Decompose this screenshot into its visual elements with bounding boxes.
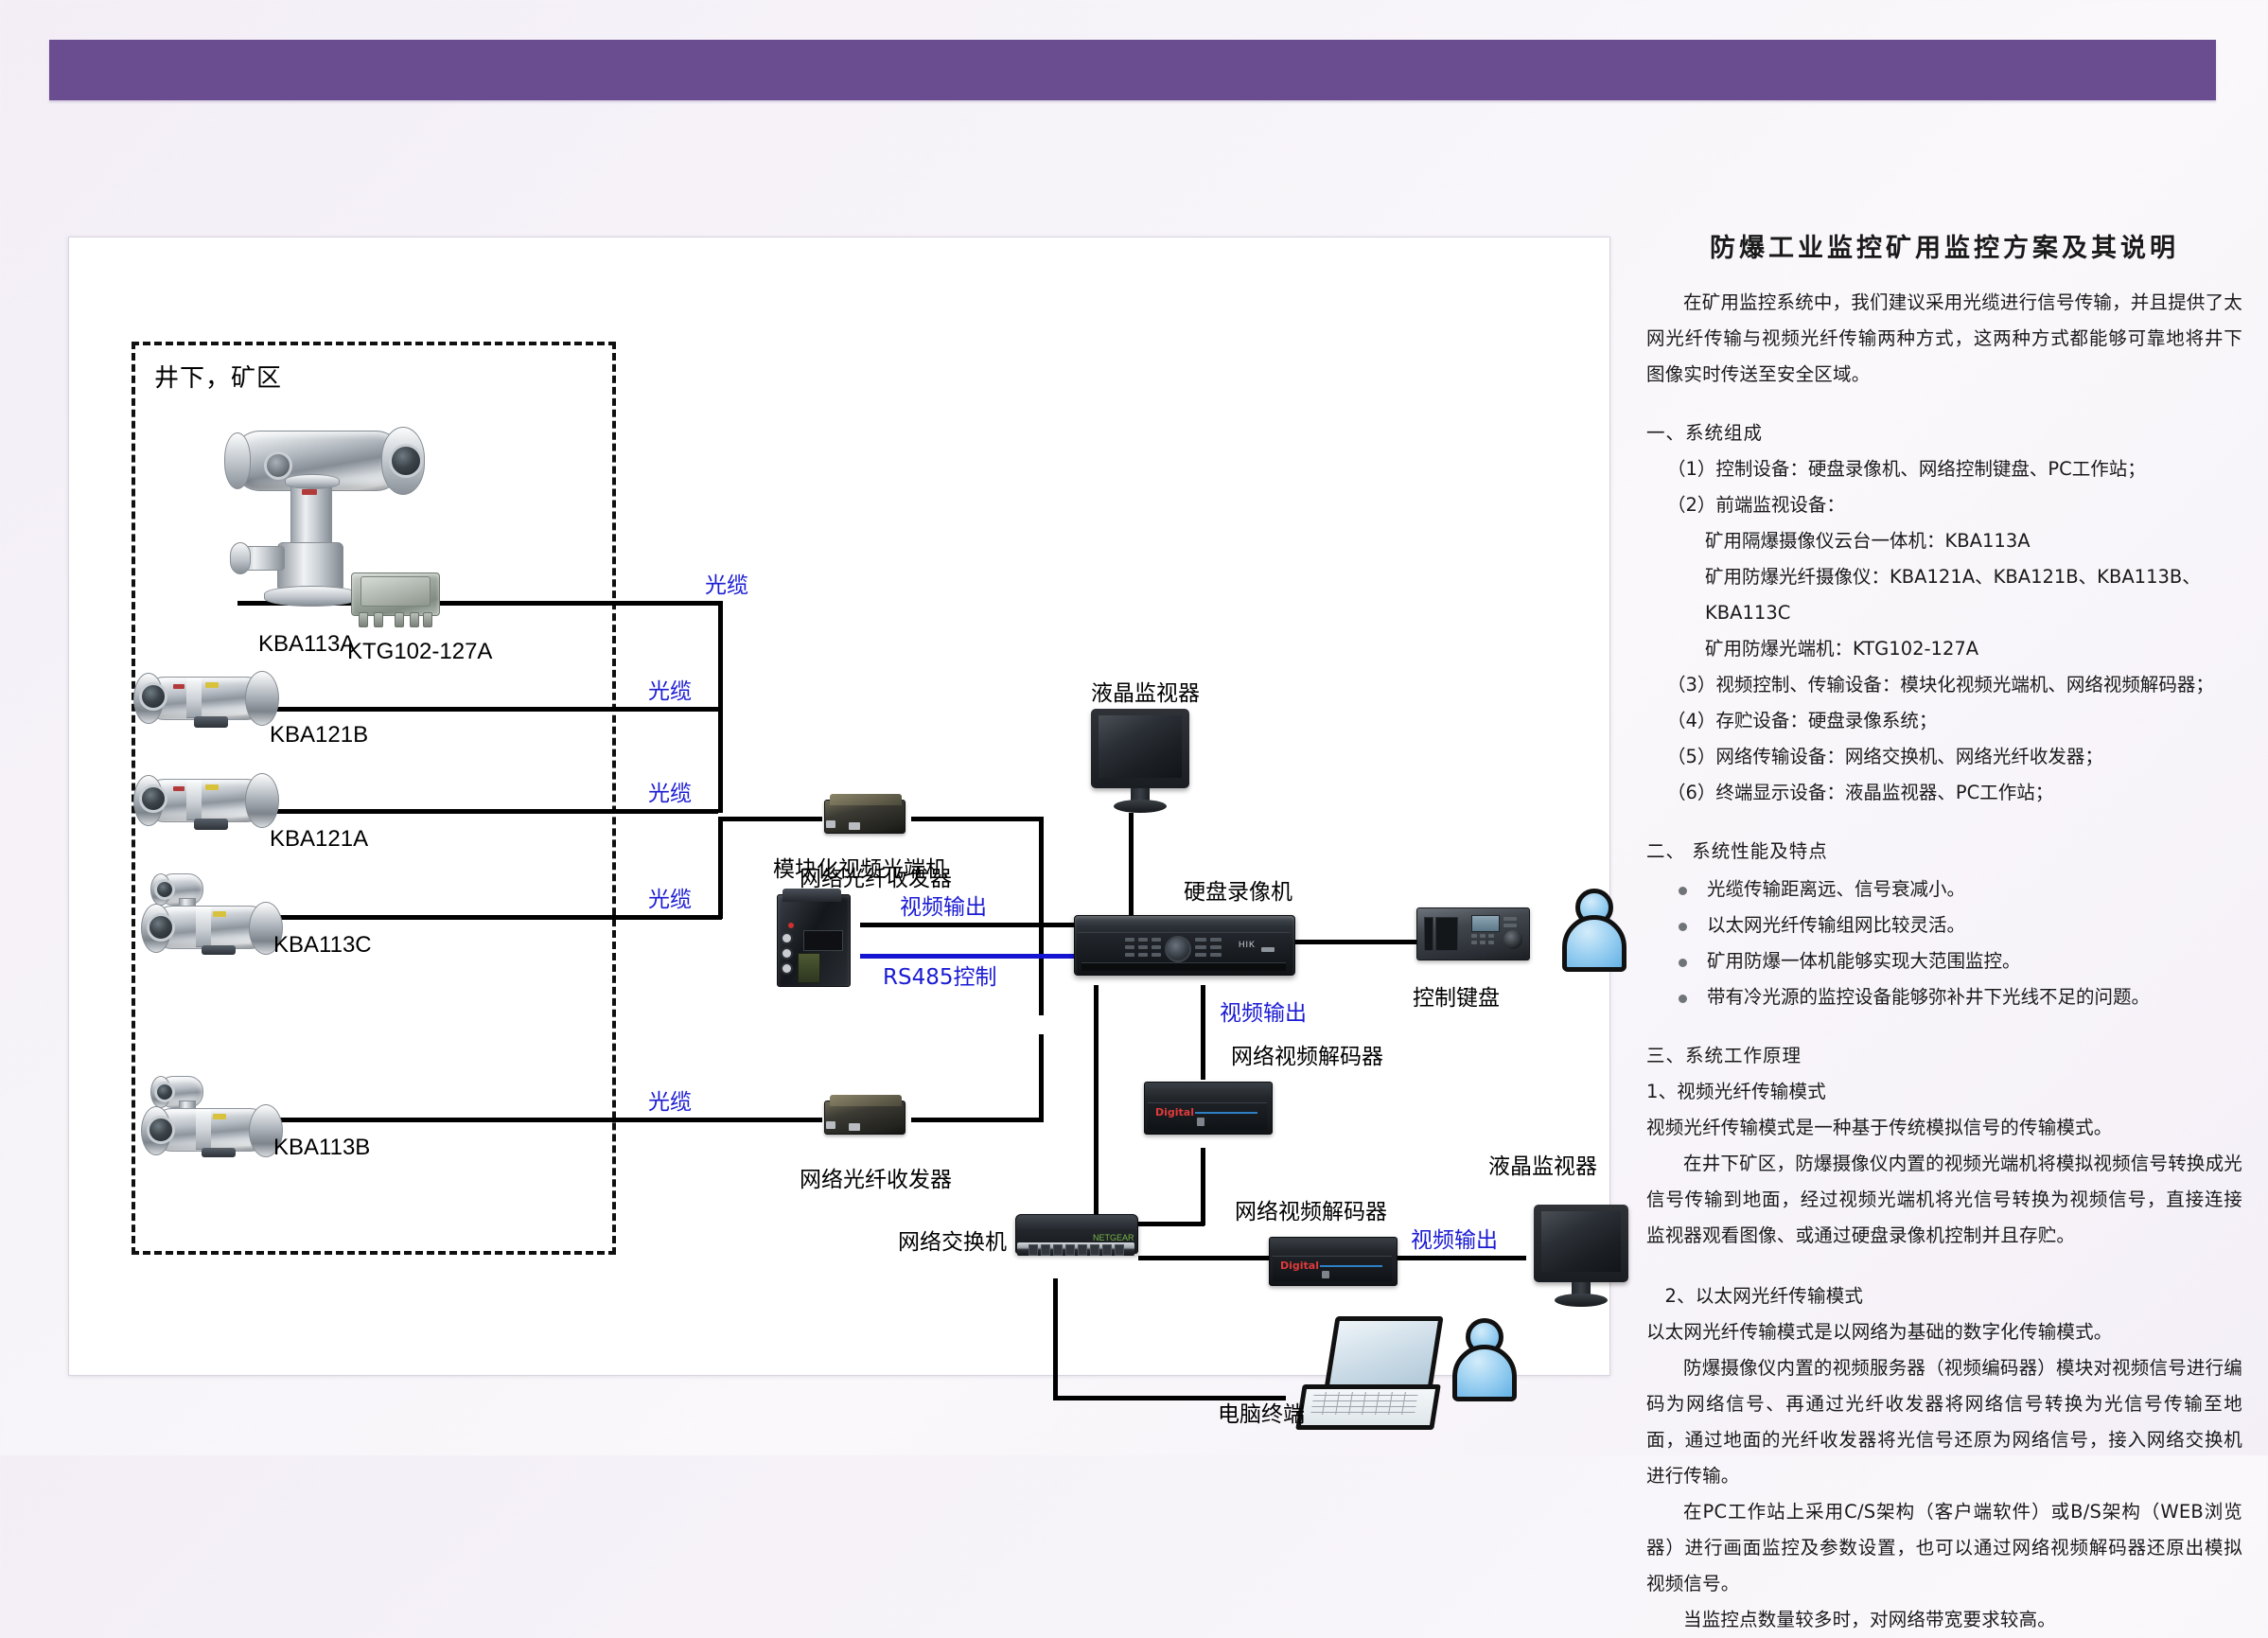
intro-paragraph: 在矿用监控系统中，我们建议采用光缆进行信号传输，并且提供了太网光纤传输与视频光纤… <box>1646 285 2242 393</box>
device-network-switch: NETGEAR <box>1015 1208 1140 1267</box>
label-control-keyboard: 控制键盘 <box>1413 979 1500 1012</box>
label-rs485: RS485控制 <box>883 959 996 991</box>
label-camera-kba113c: KBA113C <box>273 932 372 959</box>
wire-dvr-to-keyboard <box>1290 940 1422 944</box>
wire-switch-down <box>1053 1278 1058 1400</box>
wire-dec1-down <box>1201 1148 1205 1225</box>
label-ptz-camera: KBA113A <box>258 631 355 658</box>
document-text-column: 防爆工业监控矿用监控方案及其说明 在矿用监控系统中，我们建议采用光缆进行信号传输… <box>1646 227 2242 1638</box>
avatar-operator-2 <box>1447 1318 1517 1400</box>
section-3-mode-2-paragraph-2: 防爆摄像仪内置的视频服务器（视频编码器）模块对视频信号进行编码为网络信号、再通过… <box>1646 1350 2242 1494</box>
wire-dvr-down-left <box>1094 985 1099 1227</box>
wire-cam4-riser <box>718 817 723 919</box>
device-video-mux <box>769 885 860 989</box>
label-camera-kba121a: KBA121A <box>270 826 368 853</box>
paragraph-spacer <box>1646 1254 2242 1278</box>
section-1-heading: 一、系统组成 <box>1646 415 2242 451</box>
section-1-item-3: （3）视频控制、传输设备：模块化视频光端机、网络视频解码器； <box>1646 667 2242 703</box>
wire-jbox-to-trunk <box>438 601 722 606</box>
section-1-item-2-sub-2: 矿用防爆光纤摄像仪：KBA121A、KBA121B、KBA113B、KBA113… <box>1646 559 2242 631</box>
top-banner <box>49 40 2216 100</box>
device-decoder-1: Digital <box>1144 1072 1276 1146</box>
list-item: 带有冷光源的监控设备能够弥补井下光线不足的问题。 <box>1679 979 2242 1015</box>
wire-conv1-in <box>718 817 822 821</box>
wire-dec1-to-switch <box>1138 1222 1204 1226</box>
wire-switch-to-dec2 <box>1138 1256 1290 1260</box>
device-decoder-2: Digital <box>1269 1229 1401 1303</box>
label-video-output-3: 视频输出 <box>1411 1222 1498 1254</box>
section-3-mode-1-paragraph-1: 视频光纤传输模式是一种基于传统模拟信号的传输模式。 <box>1646 1110 2242 1146</box>
mine-zone-label: 井下，矿区 <box>154 359 282 394</box>
list-item: 光缆传输距离远、信号衰减小。 <box>1679 872 2242 907</box>
label-media-converter-2: 网络光纤收发器 <box>800 1161 952 1193</box>
label-network-switch: 网络交换机 <box>898 1224 1007 1256</box>
section-1-item-2-sub-1: 矿用隔爆摄像仪云台一体机：KBA113A <box>1646 523 2242 559</box>
label-camera-kba113b: KBA113B <box>273 1135 370 1161</box>
wire-mux-riser <box>718 707 723 813</box>
section-1-item-5: （5）网络传输设备：网络交换机、网络光纤收发器； <box>1646 739 2242 775</box>
section-1-item-6: （6）终端显示设备：液晶监视器、PC工作站； <box>1646 775 2242 811</box>
section-3-mode-1-heading: 1、视频光纤传输模式 <box>1646 1074 2242 1110</box>
section-2-bullet-list: 光缆传输距离远、信号衰减小。 以太网光纤传输组网比较灵活。 矿用防爆一体机能够实… <box>1646 872 2242 1015</box>
wire-videoout-1 <box>860 923 1074 927</box>
device-lcd-monitor-top <box>1083 709 1197 819</box>
device-pc-terminal <box>1286 1316 1447 1437</box>
cable-label-1: 光缆 <box>705 567 748 599</box>
wire-conv1-to-switch <box>1039 817 1044 1015</box>
device-media-converter-2 <box>818 1087 915 1146</box>
section-3-mode-1-paragraph-2: 在井下矿区，防爆摄像仪内置的视频光端机将模拟视频信号转换成光信号传输到地面，经过… <box>1646 1146 2242 1254</box>
wire-conv2-out <box>911 1118 1044 1122</box>
section-1-item-2: （2）前端监视设备： <box>1646 487 2242 523</box>
section-3-heading: 三、系统工作原理 <box>1646 1038 2242 1074</box>
wire-conv1-out <box>911 817 1044 821</box>
label-pc-terminal: 电脑终端 <box>1218 1396 1305 1428</box>
label-media-converter-1: 网络光纤收发器 <box>800 860 952 892</box>
section-3-mode-2-paragraph-4: 当监控点数量较多时，对网络带宽要求较高。 <box>1646 1602 2242 1638</box>
wire-dvr-down-right <box>1201 985 1205 1080</box>
section-3-mode-2-paragraph-1: 以太网光纤传输模式是以网络为基础的数字化传输模式。 <box>1646 1314 2242 1350</box>
network-diagram-card: 井下，矿区 光缆 光缆 光缆 光缆 光缆 <box>68 237 1610 1376</box>
wire-conv2-to-switch <box>1039 1034 1044 1121</box>
section-3-mode-2-paragraph-3: 在PC工作站上采用C/S架构（客户端软件）或B/S架构（WEB浏览器）进行画面监… <box>1646 1494 2242 1602</box>
cable-label-4: 光缆 <box>648 881 692 913</box>
section-1-item-4: （4）存贮设备：硬盘录像系统； <box>1646 703 2242 739</box>
decoder-brand-1: Digital <box>1155 1106 1194 1118</box>
section-2-heading: 二、 系统性能及特点 <box>1646 834 2242 870</box>
section-1-item-1: （1）控制设备：硬盘录像机、网络控制键盘、PC工作站； <box>1646 451 2242 487</box>
label-junction-box: KTG102-127A <box>347 639 492 665</box>
label-video-output-2: 视频输出 <box>1220 995 1307 1027</box>
label-lcd-monitor-top: 液晶监视器 <box>1091 675 1200 707</box>
device-lcd-monitor-bottom <box>1526 1205 1640 1314</box>
wire-dvr-to-monitor <box>1129 813 1134 917</box>
decoder-brand-2: Digital <box>1280 1259 1319 1272</box>
device-media-converter-1 <box>818 786 915 845</box>
wire-row1-riser <box>718 601 723 714</box>
avatar-operator-1 <box>1556 889 1626 970</box>
device-junction-box <box>347 567 442 633</box>
cable-label-5: 光缆 <box>648 1083 692 1116</box>
label-lcd-monitor-bottom: 液晶监视器 <box>1488 1148 1597 1180</box>
device-control-keyboard <box>1416 900 1534 970</box>
wire-cam5 <box>220 1118 822 1122</box>
list-item: 矿用防爆一体机能够实现大范围监控。 <box>1679 943 2242 979</box>
label-decoder-2: 网络视频解码器 <box>1235 1193 1387 1225</box>
section-1-item-2-sub-3: 矿用防爆光端机：KTG102-127A <box>1646 631 2242 667</box>
wire-videoout-3 <box>1394 1256 1526 1260</box>
list-item: 以太网光纤传输组网比较灵活。 <box>1679 907 2242 943</box>
section-3-mode-2-heading: 2、以太网光纤传输模式 <box>1646 1278 2242 1314</box>
cable-label-2: 光缆 <box>648 673 692 705</box>
label-dvr: 硬盘录像机 <box>1184 873 1292 906</box>
device-dvr: HIK <box>1074 911 1297 985</box>
label-camera-kba121b: KBA121B <box>270 722 368 749</box>
label-decoder-1: 网络视频解码器 <box>1231 1038 1383 1070</box>
cable-label-3: 光缆 <box>648 775 692 807</box>
label-video-output-1: 视频输出 <box>900 889 987 921</box>
page-title: 防爆工业监控矿用监控方案及其说明 <box>1646 227 2242 264</box>
